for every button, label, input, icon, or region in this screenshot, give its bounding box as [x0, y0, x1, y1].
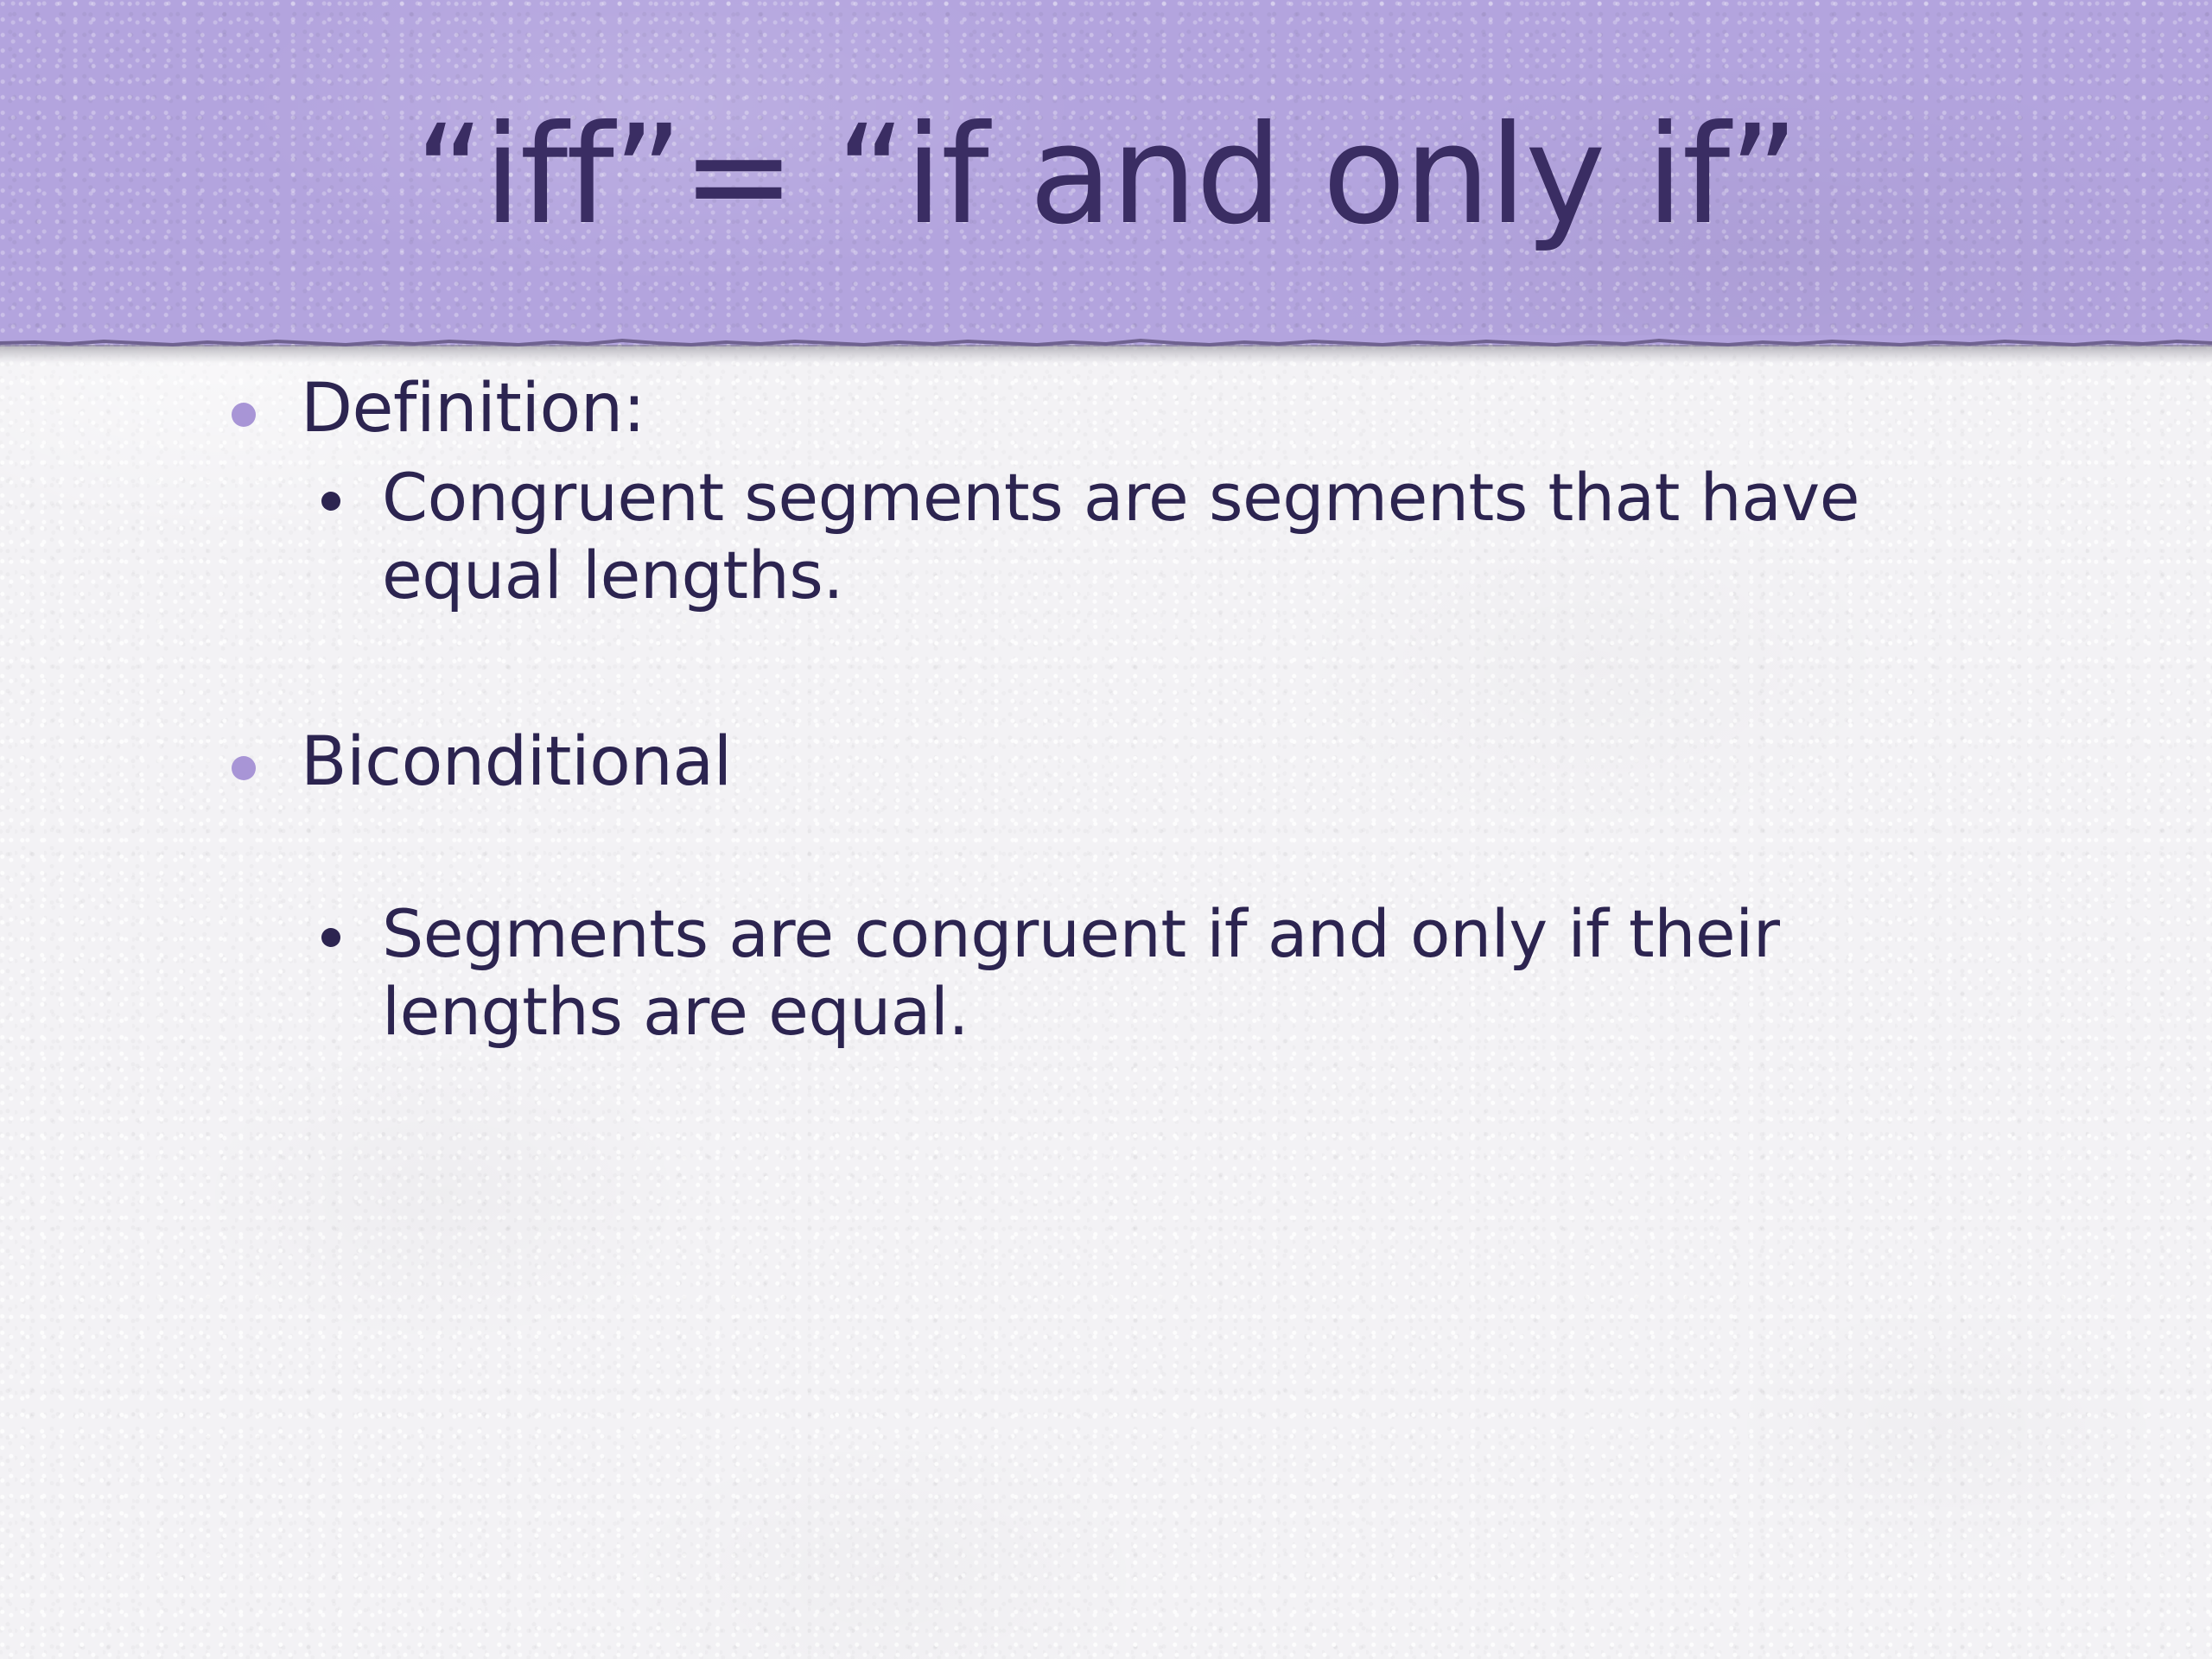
bullet-level2-label: Segments are congruent if and only if th… — [382, 895, 1929, 1050]
slide-body: Definition: Congruent segments are segme… — [0, 372, 2212, 1659]
slide: “iff”= “if and only if” Definition: Cong… — [0, 0, 2212, 1659]
bullet-level1-label: Definition: — [301, 372, 645, 447]
item-spacer — [0, 812, 2212, 895]
bullet-level1-biconditional: Biconditional — [0, 725, 2212, 800]
page-title: “iff”= “if and only if” — [415, 85, 1797, 244]
filled-circle-light-purple-icon — [232, 403, 256, 427]
torn-edge-icon — [0, 335, 2212, 347]
torn-edge-shadow — [0, 345, 2212, 367]
title-container: “iff”= “if and only if” — [0, 0, 2212, 328]
bullet-level1-definition: Definition: — [0, 372, 2212, 447]
filled-circle-dark-purple-icon — [321, 492, 340, 511]
filled-circle-dark-purple-icon — [321, 928, 340, 947]
block-spacer — [0, 623, 2212, 725]
bullet-level2-segments-congruent: Segments are congruent if and only if th… — [0, 895, 2212, 1050]
bullet-level2-label: Congruent segments are segments that hav… — [382, 459, 1929, 613]
bullet-level1-label: Biconditional — [301, 725, 732, 800]
bullet-level2-congruent-segments: Congruent segments are segments that hav… — [0, 459, 2212, 613]
filled-circle-light-purple-icon — [232, 756, 256, 780]
